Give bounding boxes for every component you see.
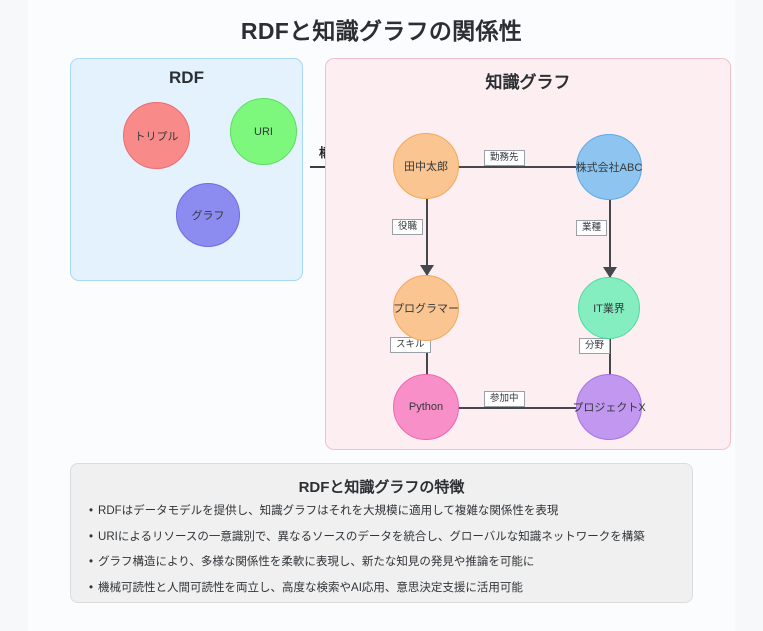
kg-node-industry-label: IT業界 <box>593 300 625 316</box>
kg-node-tanaka[interactable]: 田中太郎 <box>393 133 459 199</box>
kg-node-company-label: 株式会社ABC <box>576 159 643 175</box>
rdf-panel: RDF トリプル URI グラフ <box>70 58 303 281</box>
features-list-item: 機械可読性と人間可読性を両立し、高度な検索やAI応用、意思決定支援に活用可能 <box>89 581 686 597</box>
features-title: RDFと知識グラフの特徴 <box>71 476 692 497</box>
kg-node-programmer-label: プログラマー <box>393 300 459 316</box>
kg-edge-field-label: 分野 <box>579 338 610 354</box>
kg-node-company[interactable]: 株式会社ABC <box>576 134 642 200</box>
kg-node-tanaka-label: 田中太郎 <box>404 158 448 174</box>
knowledge-graph-panel: 知識グラフ 勤務先 役職 業種 スキル 分野 参加中 田中太郎 株式会社ABC <box>325 58 731 450</box>
features-list: RDFはデータモデルを提供し、知識グラフはそれを大規模に適用して複雑な関係性を表… <box>89 504 686 606</box>
page-title: RDFと知識グラフの関係性 <box>28 12 735 46</box>
kg-node-programmer[interactable]: プログラマー <box>393 275 459 341</box>
rdf-node-graph[interactable]: グラフ <box>176 183 240 247</box>
kg-panel-title: 知識グラフ <box>326 68 730 93</box>
kg-edge-sector-label: 業種 <box>576 220 607 236</box>
rdf-node-uri-label: URI <box>254 126 273 138</box>
kg-node-python[interactable]: Python <box>393 374 459 440</box>
features-box: RDFと知識グラフの特徴 RDFはデータモデルを提供し、知識グラフはそれを大規模… <box>70 463 693 603</box>
rdf-node-triple-label: トリプル <box>135 128 179 144</box>
features-list-item: URIによるリソースの一意識別で、異なるソースのデータを統合し、グローバルな知識… <box>89 530 686 546</box>
kg-edge-works-at-label: 勤務先 <box>484 150 525 166</box>
kg-edge-participating-label: 参加中 <box>484 391 525 407</box>
kg-node-industry[interactable]: IT業界 <box>578 277 640 339</box>
kg-node-project-label: プロジェクトX <box>572 399 645 415</box>
features-list-item: RDFはデータモデルを提供し、知識グラフはそれを大規模に適用して複雑な関係性を表… <box>89 504 686 520</box>
rdf-node-triple[interactable]: トリプル <box>123 102 190 169</box>
kg-node-python-label: Python <box>409 401 443 413</box>
kg-node-project[interactable]: プロジェクトX <box>576 374 642 440</box>
diagram-canvas: RDFと知識グラフの関係性 RDF トリプル URI グラフ 構築 知識グラフ … <box>28 0 735 631</box>
rdf-node-graph-label: グラフ <box>192 207 225 223</box>
rdf-panel-title: RDF <box>71 68 302 88</box>
features-list-item: グラフ構造により、多様な関係性を柔軟に表現し、新たな知見の発見や推論を可能に <box>89 555 686 571</box>
kg-edge-position-label: 役職 <box>392 219 423 235</box>
rdf-node-uri[interactable]: URI <box>230 98 297 165</box>
